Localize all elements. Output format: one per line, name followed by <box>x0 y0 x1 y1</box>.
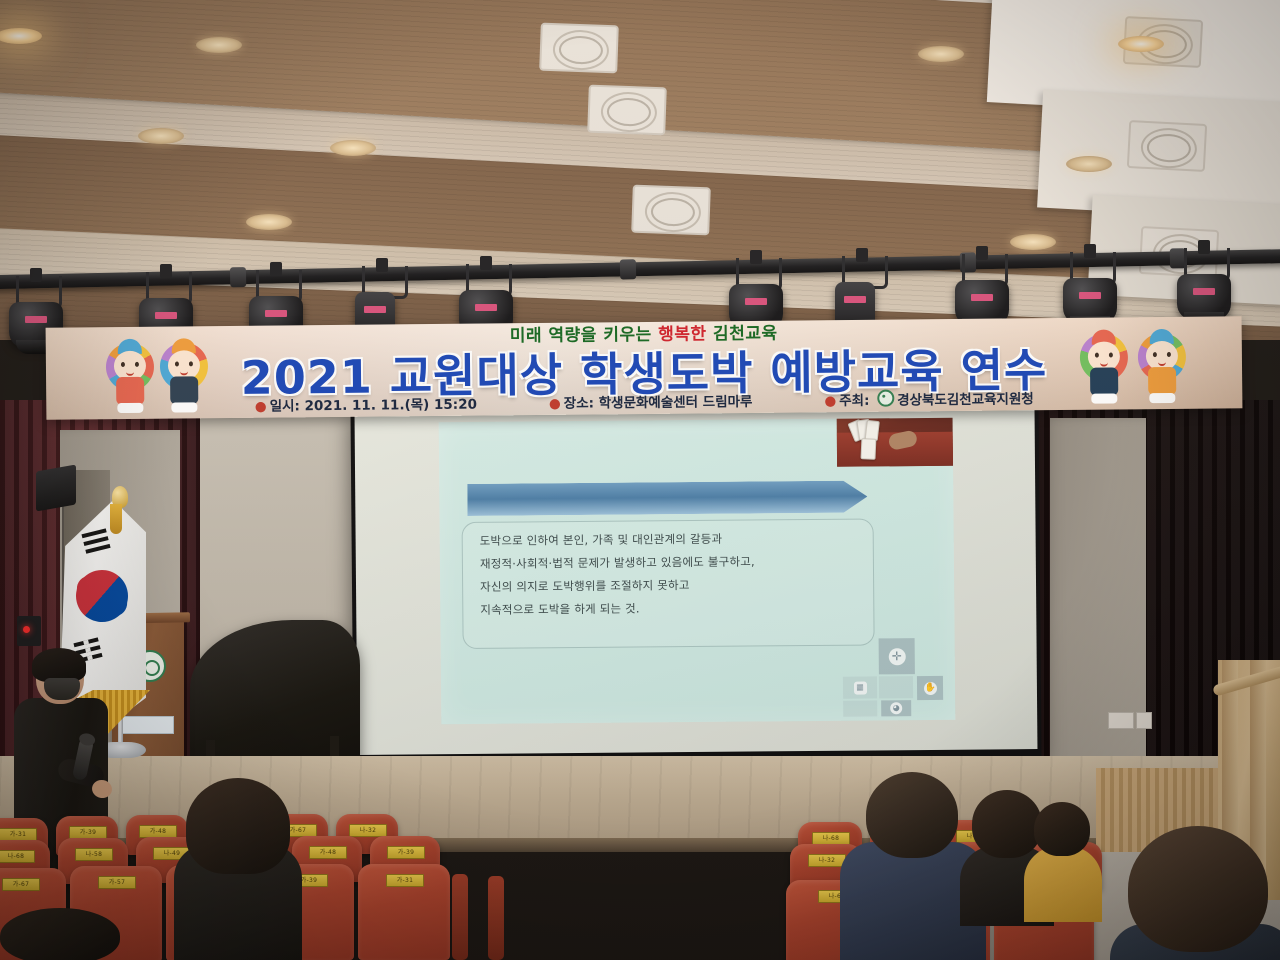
audience-member <box>1034 802 1090 912</box>
face-mask-icon <box>44 678 80 700</box>
banner-info-value: 2021. 11. 11.(목) 15:20 <box>305 397 478 415</box>
event-banner: 미래 역량을 키우는 행복한 김천교육 2021 교원대상 학생도박 예방교육 … <box>46 316 1243 419</box>
seat-plate: 가-48 <box>309 846 347 859</box>
wall-outlet-icon <box>1136 712 1152 729</box>
seat-plate: 가-39 <box>387 846 425 859</box>
banner-info-label: 일시: <box>270 398 300 414</box>
wall-outlet-icon <box>1108 712 1134 729</box>
tile-blank: ▦ <box>843 676 877 698</box>
tile-hand: ✋ <box>917 676 943 700</box>
wall-speaker <box>36 464 76 511</box>
ceiling-downlight <box>246 214 292 230</box>
seat-plate: 가-31 <box>386 874 424 887</box>
banner-info-datetime: ●일시: 2021. 11. 11.(목) 15:20 <box>255 393 477 415</box>
seat-armrest <box>452 874 468 960</box>
ceiling-downlight <box>330 140 376 156</box>
ceiling-vent-icon <box>539 23 619 74</box>
organizer-emblem-icon <box>877 390 894 407</box>
audience-member <box>866 772 958 960</box>
auditorium-photo-scene: 도박으로 인하여 본인, 가족 및 대인관계의 갈등과 재정적·사회적·법적 문… <box>0 0 1280 960</box>
seat[interactable]: 가-31 <box>358 864 450 960</box>
slide-line: 지속적으로 도박을 하게 되는 것. <box>480 595 880 621</box>
flag-tassel <box>110 504 122 534</box>
hand-icon: ✋ <box>923 681 936 694</box>
seat-plate: 나-68 <box>0 850 35 863</box>
presentation-slide: 도박으로 인하여 본인, 가족 및 대인관계의 갈등과 재정적·사회적·법적 문… <box>439 418 956 724</box>
ceiling-downlight <box>1010 234 1056 250</box>
tile-plus: ✛ <box>879 638 915 674</box>
ceiling-downlight <box>196 37 242 53</box>
banner-info-label: 장소: <box>564 395 594 411</box>
banner-info-location: ●장소: 학생문화예술센터 드림마루 <box>549 390 753 412</box>
seat-plate: 가-57 <box>98 876 136 889</box>
seat-plate: 나-32 <box>808 854 846 867</box>
tile-clock: ◕ <box>881 700 911 716</box>
slide-line: 도박으로 인하여 본인, 가족 및 대인관계의 갈등과 <box>480 526 880 552</box>
banner-info-organizer: ●주최: 경상북도김천교육지원청 <box>824 387 1034 409</box>
podium-nameplate <box>122 716 174 734</box>
slide-line: 재정적·사회적·법적 문제가 발생하고 있음에도 불구하고, <box>480 549 880 575</box>
tile-blank <box>843 700 877 716</box>
banner-info-value: 경상북도김천교육지원청 <box>897 391 1034 408</box>
ceiling-downlight <box>1118 36 1164 52</box>
slide-line: 자신의 의지로 도박행위를 조절하지 못하고 <box>480 572 880 598</box>
clock-icon: ◕ <box>890 702 902 714</box>
audience-member <box>1128 826 1268 960</box>
audience-member <box>186 778 290 958</box>
banner-info-value: 학생문화예술센터 드림마루 <box>599 394 753 411</box>
ceiling-downlight <box>1066 156 1112 172</box>
grid-icon: ▦ <box>853 681 866 694</box>
ceiling-downlight <box>918 46 964 62</box>
banner-info-label: 주최: <box>839 393 869 409</box>
audience-member <box>0 908 120 960</box>
ceiling-downlight <box>138 128 184 144</box>
ceiling-vent-icon <box>631 185 711 236</box>
slide-body-text: 도박으로 인하여 본인, 가족 및 대인관계의 갈등과 재정적·사회적·법적 문… <box>480 526 881 621</box>
tile-blank <box>879 676 913 698</box>
seat-plate: 가-67 <box>2 878 40 891</box>
slide-arrow-banner <box>467 481 867 516</box>
slide-decorative-tiles: ✛ ▦ ✋ ◕ <box>843 638 952 717</box>
seat-plate: 나-32 <box>349 824 387 837</box>
slide-photo-cards <box>837 418 953 467</box>
seat-plate: 나-58 <box>75 848 113 861</box>
wall-control-panel[interactable] <box>17 616 41 646</box>
plus-icon: ✛ <box>888 648 905 665</box>
seat-armrest <box>488 876 504 960</box>
ceiling-vent-icon <box>587 85 667 136</box>
ceiling-vent-icon <box>1127 120 1207 172</box>
